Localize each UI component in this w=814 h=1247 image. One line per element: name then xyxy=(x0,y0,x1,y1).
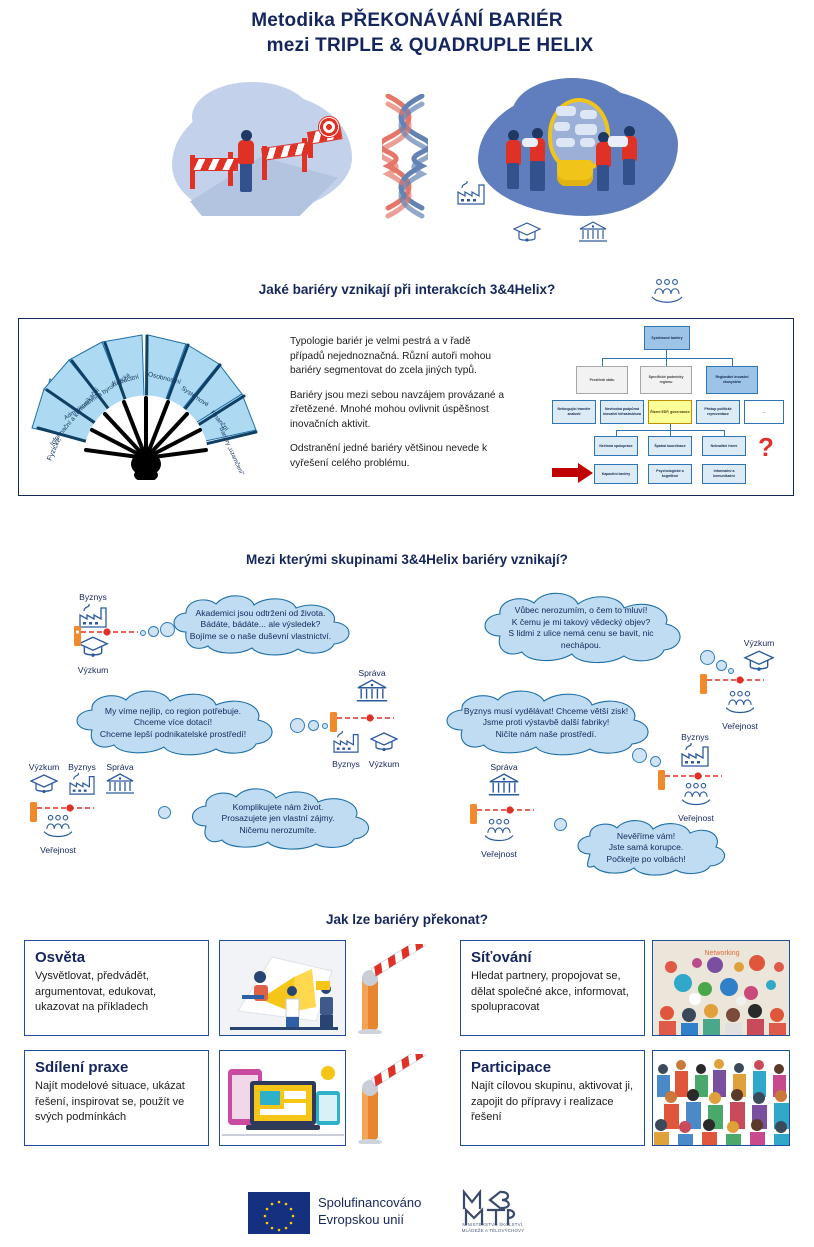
tree-l4-0: Nečinná spolupráce xyxy=(594,436,638,456)
card-participace-image xyxy=(652,1050,790,1146)
idea-bubble-1 xyxy=(556,106,576,116)
bubble-complicate-text: Komplikujete nám život. Prosazujete jen … xyxy=(178,788,378,850)
bubble-complicate-line-3: Ničemu nerozumíte. xyxy=(240,825,317,835)
card-sitovani-image: Networking xyxy=(652,940,790,1036)
bubble-complicate-line-2: Prosazujete jen vlastní zájmy. xyxy=(221,813,334,823)
idea-bubble-4 xyxy=(575,124,597,135)
card-sitovani-body: Hledat partnery, propojovat se, dělat sp… xyxy=(471,969,634,1016)
bubble-corruption-text: Nevěříme vám! Jste samá korupce. Počkejt… xyxy=(566,820,726,876)
bubble-corruption-line-3: Počkejte po volbách! xyxy=(606,854,685,864)
group-public-bottom-right: Veřejnost xyxy=(470,818,528,859)
bubble-business-profit-text: Byznys musí vydělávat! Chceme větší zisk… xyxy=(432,690,660,756)
tree-line-root-v xyxy=(666,350,667,358)
tree-question-mark: ? xyxy=(758,434,774,460)
group-business-public-right: Byznys xyxy=(666,732,724,773)
chat-bubble-right xyxy=(608,136,628,147)
tree-l5-0: Kapacitní bariéry xyxy=(594,464,638,484)
card-sdileni-praxe-image xyxy=(219,1050,346,1146)
tree-line-l2-a xyxy=(602,358,603,366)
target-icon xyxy=(318,116,340,138)
thought-dot-large xyxy=(632,748,647,763)
eu-funding-line-1: Spolufinancováno xyxy=(318,1194,421,1211)
thought-dot-mid xyxy=(308,720,319,731)
group-label-public: Veřejnost xyxy=(470,849,528,859)
title-line-1: Metodika PŘEKONÁVÁNÍ BARIÉR xyxy=(0,8,814,33)
group-label-administration: Správa xyxy=(102,762,138,772)
tree-line-l2-b xyxy=(666,358,667,366)
thought-dot-large xyxy=(158,806,171,819)
section-1-paragraph-2: Bariéry jsou mezi sebou navzájem prováza… xyxy=(290,389,508,433)
bubble-business-profit: Byznys musí vydělávat! Chceme větší zisk… xyxy=(432,690,660,756)
bubble-public-science-line-1: Vůbec nerozumím, o čem to mluví! xyxy=(515,605,648,615)
hero-man-legs xyxy=(240,162,252,192)
tree-l2-1: Specifické podmínky regionu xyxy=(640,366,692,394)
tree-l5-1: Psychologické a kognitivní xyxy=(648,464,692,484)
idea-bubble-5 xyxy=(556,138,575,147)
eu-funding-line-2: Evropskou unií xyxy=(318,1211,421,1228)
tree-l3-1: Nevhodná podpůrná inovační infrastruktur… xyxy=(600,400,644,424)
tree-l3-0: Nefungující transfer znalostí xyxy=(552,400,596,424)
people-in-hand-icon xyxy=(678,782,714,808)
section-1-paragraph-1: Typologie bariér je velmi pestrá a v řad… xyxy=(290,335,508,379)
bubble-academics-line-3: Bojíme se o naše duševní vlastnictví. xyxy=(190,631,331,641)
bubble-public-science-line-2: K čemu je mi takový vědecký objev? xyxy=(512,617,651,627)
tree-line-l2-c xyxy=(732,358,733,366)
government-building-icon xyxy=(353,678,391,704)
card-participace[interactable]: Participace Najít cílovou skupinu, aktiv… xyxy=(460,1050,645,1146)
systemic-barriers-tree: Systémové bariéry Prostředí státu Specif… xyxy=(566,322,788,490)
hero-man-head xyxy=(241,130,252,141)
idea-bubble-2 xyxy=(580,110,597,119)
tree-l4-1: Špatná koordinace xyxy=(648,436,692,456)
thought-dot-small xyxy=(140,630,146,636)
group-label-business: Byznys xyxy=(64,762,100,772)
card-osveta-title: Osvěta xyxy=(35,949,198,966)
card-participace-body: Najít cílovou skupinu, aktivovat ji, zap… xyxy=(471,1079,634,1126)
barrier-gate-illustration xyxy=(356,1054,430,1144)
barrier-types-fan: Fyzické Informační a komunikační Adminis… xyxy=(28,332,263,480)
title-line-2: mezi TRIPLE & QUADRUPLE HELIX xyxy=(0,33,814,58)
hero-man-body xyxy=(238,140,254,164)
factory-icon xyxy=(64,772,100,796)
infographic-page: Metodika PŘEKONÁVÁNÍ BARIÉR mezi TRIPLE … xyxy=(0,0,814,1247)
networking-illustration: Networking xyxy=(653,941,790,1036)
factory-icon xyxy=(456,180,486,206)
eu-flag-icon xyxy=(248,1192,310,1234)
bubble-academics-text: Akademici jsou odtrženi od života. Bádát… xyxy=(158,594,363,656)
red-arrow-icon xyxy=(552,462,594,484)
tree-l3-4: ... xyxy=(744,400,784,424)
tree-l3-3: Přístup politické reprezentace xyxy=(696,400,740,424)
group-label-public: Veřejnost xyxy=(28,845,88,855)
bubble-region-line-1: My víme nejlíp, co region potřebuje. xyxy=(105,706,241,716)
thought-dot-mid xyxy=(716,660,727,671)
people-in-hand-icon xyxy=(722,690,758,716)
government-building-icon xyxy=(578,220,608,244)
idea-bubble-3 xyxy=(554,122,570,131)
dna-helix-icon xyxy=(382,94,428,220)
tree-l3-2: Řízení EDP, governance xyxy=(648,400,692,424)
card-sdileni-praxe-title: Sdílení praxe xyxy=(35,1059,198,1076)
factory-icon xyxy=(675,742,715,768)
barrier-gate-icon xyxy=(74,624,140,646)
eu-funding-text: Spolufinancováno Evropskou unií xyxy=(318,1194,421,1228)
bubble-corruption-line-1: Nevěříme vám! xyxy=(617,831,675,841)
megaphone-illustration xyxy=(220,941,346,1036)
card-osveta[interactable]: Osvěta Vysvětlovat, předvádět, argumento… xyxy=(24,940,209,1036)
barrier-gate-illustration xyxy=(356,944,430,1034)
msmt-logo-subtitle: MINISTERSTVO ŠKOLSTVÍ, MLÁDEŽE A TĚLOVÝC… xyxy=(450,1222,536,1234)
group-label-research: Výzkum xyxy=(64,665,122,675)
factory-icon xyxy=(328,730,364,754)
group-business-research-mid: Byznys Výzkum xyxy=(328,730,404,769)
group-administration-bottom: Správa xyxy=(476,762,532,803)
crowd-illustration xyxy=(653,1051,790,1146)
chat-bubble-left xyxy=(522,138,538,147)
graduation-cap-icon xyxy=(739,648,779,674)
tree-l4-2: Nekvalitní řízení xyxy=(702,436,746,456)
group-public-mid-right: Veřejnost xyxy=(668,782,724,823)
group-label-public: Veřejnost xyxy=(712,721,768,731)
bubble-academics: Akademici jsou odtrženi od života. Bádát… xyxy=(158,594,363,656)
group-label-business: Byznys xyxy=(666,732,724,742)
government-building-icon xyxy=(102,772,138,796)
bubble-business-profit-line-3: Ničíte nám naše prostředí. xyxy=(496,729,597,739)
group-label-research: Výzkum xyxy=(730,638,788,648)
thought-dot-large xyxy=(700,650,715,665)
group-public-bottom-left: Veřejnost xyxy=(28,814,88,855)
group-public-top-right: Veřejnost xyxy=(712,690,768,731)
graduation-cap-icon xyxy=(366,730,402,754)
tree-l2-0: Prostředí státu xyxy=(576,366,628,394)
bubble-business-profit-line-2: Jsme proti výstavbě další fabriky! xyxy=(483,717,610,727)
government-building-icon xyxy=(485,772,523,798)
section-1-text: Typologie bariér je velmi pestrá a v řad… xyxy=(290,335,508,481)
graduation-cap-icon xyxy=(26,772,62,796)
section-2-heading: Mezi kterými skupinami 3&4Helix bariéry … xyxy=(0,552,814,567)
bubble-region-line-2: Chceme více dotací! xyxy=(134,717,212,727)
thought-dot-large xyxy=(290,718,305,733)
section-1-paragraph-3: Odstranění jedné bariéry většinou nevede… xyxy=(290,442,508,471)
bubble-public-science-text: Vůbec nerozumím, o čem to mluví! K čemu … xyxy=(470,592,692,664)
graduation-cap-icon xyxy=(512,220,542,244)
networking-caption: Networking xyxy=(704,950,739,957)
bubble-complicate-line-1: Komplikujete nám život. xyxy=(233,802,324,812)
bubble-corruption: Nevěříme vám! Jste samá korupce. Počkejt… xyxy=(566,820,726,876)
msmt-subtitle-line-2: MLÁDEŽE A TĚLOVÝCHOVY xyxy=(450,1228,536,1234)
tree-root: Systémové bariéry xyxy=(644,326,690,350)
card-sdileni-praxe-body: Najít modelové situace, ukázat řešení, i… xyxy=(35,1079,198,1126)
bubble-region-line-3: Chceme lepší podnikatelské prostředí! xyxy=(100,729,246,739)
group-administration-mid: Správa xyxy=(344,668,400,709)
lightbulb-base xyxy=(557,160,593,186)
thought-dot-mid xyxy=(650,756,661,767)
bubble-academics-line-1: Akademici jsou odtrženi od života. xyxy=(196,608,326,618)
devices-illustration xyxy=(220,1051,346,1146)
group-label-research: Výzkum xyxy=(26,762,62,772)
people-in-hand-icon xyxy=(481,818,517,844)
group-label-business: Byznys xyxy=(328,759,364,769)
group-label-business: Byznys xyxy=(64,592,122,602)
tree-l2-2: Regionální inovační ekosystém xyxy=(706,366,758,394)
barrier-gate-icon xyxy=(330,710,396,732)
card-osveta-image xyxy=(219,940,346,1036)
thought-dot-small xyxy=(322,723,328,729)
bubble-academics-line-2: Bádáte, bádáte... ale výsledek? xyxy=(201,619,321,629)
bubble-region-text: My víme nejlíp, co region potřebuje. Chc… xyxy=(62,690,284,756)
barrier-rail-1 xyxy=(190,158,238,171)
group-label-administration: Správa xyxy=(476,762,532,772)
bubble-business-profit-line-1: Byznys musí vydělávat! Chceme větší zisk… xyxy=(464,706,628,716)
bubble-public-science-line-3: S lidmi z ulice nemá cenu se bavit, nic xyxy=(508,628,653,638)
card-participace-title: Participace xyxy=(471,1059,634,1076)
bubble-complicate: Komplikujete nám život. Prosazujete jen … xyxy=(178,788,378,850)
tree-line-root-h xyxy=(602,358,732,359)
tree-l5-2: Informační a komunikační xyxy=(702,464,746,484)
group-label-research: Výzkum xyxy=(366,759,402,769)
page-title: Metodika PŘEKONÁVÁNÍ BARIÉR mezi TRIPLE … xyxy=(0,8,814,58)
hero-illustration xyxy=(0,80,814,260)
idea-bubble-6 xyxy=(580,138,595,147)
card-osveta-body: Vysvětlovat, předvádět, argumentovat, ed… xyxy=(35,969,198,1016)
bubble-corruption-line-2: Jste samá korupce. xyxy=(609,842,684,852)
people-in-hand-icon xyxy=(40,814,76,840)
section-3-heading: Jak lze bariéry překonat? xyxy=(0,912,814,927)
bubble-public-science: Vůbec nerozumím, o čem to mluví! K čemu … xyxy=(470,592,692,664)
card-sdileni-praxe[interactable]: Sdílení praxe Najít modelové situace, uk… xyxy=(24,1050,209,1146)
bubble-region: My víme nejlíp, co region potřebuje. Chc… xyxy=(62,690,284,756)
group-research-business-administration: Výzkum Byznys Správa xyxy=(26,762,146,801)
group-label-administration: Správa xyxy=(344,668,400,678)
bubble-public-science-line-4: nechápou. xyxy=(561,640,601,650)
card-sitovani-title: Síťování xyxy=(471,949,634,966)
card-sitovani[interactable]: Síťování Hledat partnery, propojovat se,… xyxy=(460,940,645,1036)
section-1-heading: Jaké bariéry vznikají při interakcích 3&… xyxy=(0,282,814,297)
